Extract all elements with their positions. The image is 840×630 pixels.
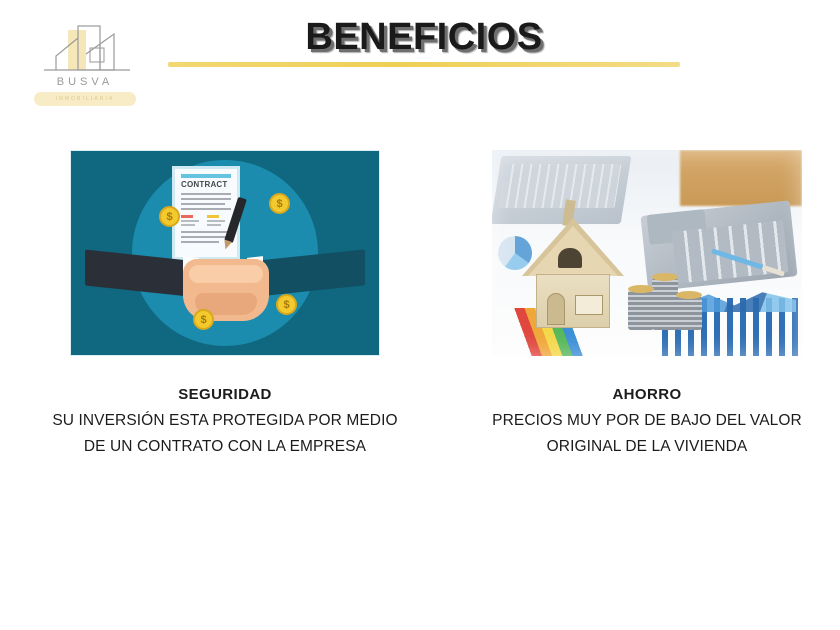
dollar-coin-icon: $: [159, 206, 180, 227]
brand-logo: BUSVA INMOBILIARIA: [26, 24, 144, 108]
benefit-media-ahorro: [492, 150, 802, 356]
benefit-description: PRECIOS MUY POR DE BAJO DEL VALOR ORIGIN…: [462, 408, 832, 460]
document-text-line: [181, 203, 225, 205]
document-text-line: [181, 193, 231, 195]
buildings-logo-icon: [34, 24, 136, 78]
page-title: BENEFICIOS: [168, 16, 680, 59]
document-chip: [207, 215, 219, 218]
benefit-caption-seguridad: SEGURIDAD SU INVERSIÓN ESTA PROTEGIDA PO…: [40, 386, 410, 460]
document-text-line: [181, 236, 231, 238]
document-text-line: [181, 231, 231, 233]
benefit-heading: AHORRO: [462, 386, 832, 403]
logo-tagline: INMOBILIARIA: [34, 93, 136, 105]
title-underline-rule: [168, 62, 680, 67]
document-text-line: [181, 220, 199, 222]
document-text-line: [207, 220, 225, 222]
benefit-description: SU INVERSIÓN ESTA PROTEGIDA POR MEDIO DE…: [40, 408, 410, 460]
benefit-caption-ahorro: AHORRO PRECIOS MUY POR DE BAJO DEL VALOR…: [462, 386, 832, 460]
dollar-coin-icon: $: [269, 193, 290, 214]
logo-name: BUSVA: [26, 76, 144, 88]
benefit-card-seguridad: CONTRACT $ $: [40, 150, 410, 460]
benefit-media-seguridad: CONTRACT $ $: [70, 150, 380, 356]
document-chip: [181, 215, 193, 218]
document-header-bar: [181, 174, 231, 178]
dollar-coin-icon: $: [276, 294, 297, 315]
benefit-card-ahorro: AHORRO PRECIOS MUY POR DE BAJO DEL VALOR…: [462, 150, 832, 460]
document-text-line: [181, 224, 195, 226]
handshake-contract-illustration: CONTRACT $ $: [70, 150, 380, 356]
document-text-line: [181, 198, 231, 200]
dollar-coin-icon: $: [193, 309, 214, 330]
document-text-line: [181, 241, 219, 243]
document-title: CONTRACT: [181, 180, 231, 189]
document-text-line: [181, 208, 231, 210]
photo-vignette: [492, 150, 802, 356]
house-model-coins-calculator-photo: [492, 150, 802, 356]
benefit-heading: SEGURIDAD: [40, 386, 410, 403]
document-text-line: [207, 224, 221, 226]
